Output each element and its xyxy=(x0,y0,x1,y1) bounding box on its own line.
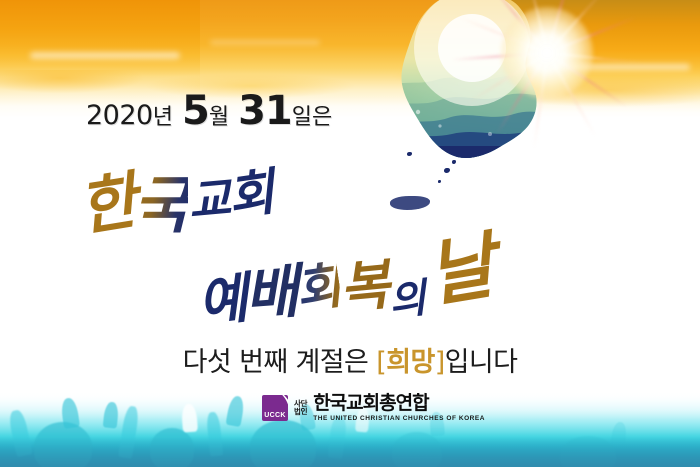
organization-logo: UCCK 사단 법인 한국교회총연합 THE UNITED CHRISTIAN … xyxy=(262,394,485,422)
date-day: 31 xyxy=(238,88,292,134)
ucck-mark-text: UCCK xyxy=(262,412,288,419)
date-year-unit: 년 xyxy=(153,105,173,130)
logo-prefix-line2: 법인 xyxy=(294,408,307,416)
subtitle: 다섯 번째 계절은 [희망]입니다 xyxy=(0,340,700,379)
headline-line-2: 예배회복의날 xyxy=(194,216,494,333)
date-month: 5 xyxy=(182,88,209,134)
headline-char-ye: 예 xyxy=(193,254,249,338)
headline-char-han: 한 xyxy=(72,150,141,248)
logo-name-english: THE UNITED CHRISTIAN CHURCHES OF KOREA xyxy=(313,415,485,422)
subtitle-bracket-close: ] xyxy=(435,347,445,378)
headline-char-hoe: 회 xyxy=(223,152,277,230)
date-day-unit: 일은 xyxy=(292,105,332,130)
subtitle-prefix: 다섯 번째 계절은 xyxy=(183,347,377,378)
headline-char-bok: 복 xyxy=(336,240,391,323)
subtitle-hope: 희망 xyxy=(386,347,434,378)
headline-char-guk: 국 xyxy=(133,155,188,245)
logo-name-block: 한국교회총연합 THE UNITED CHRISTIAN CHURCHES OF… xyxy=(313,394,485,422)
date-year: 2020 xyxy=(86,100,153,131)
banner-deep-water xyxy=(0,437,700,467)
sky-streak-1 xyxy=(30,52,180,59)
ucck-logo-icon: UCCK xyxy=(262,395,288,421)
headline-char-ui: 의 xyxy=(385,266,426,328)
headline-char-nal: 날 xyxy=(418,207,499,321)
logo-prefix: 사단 법인 xyxy=(294,400,307,415)
date-month-unit: 월 xyxy=(209,105,229,130)
subtitle-suffix: 입니다 xyxy=(445,347,518,378)
logo-name-korean: 한국교회총연합 xyxy=(313,394,485,414)
date-line: 2020년5월31일은 xyxy=(86,88,332,134)
sky-streak-3 xyxy=(210,40,320,45)
subtitle-bracket-open: [ xyxy=(376,347,386,378)
poster-root: 2020년5월31일은 한국교회 예배회복의날 다섯 번째 계절은 [희망]입니… xyxy=(0,0,700,467)
